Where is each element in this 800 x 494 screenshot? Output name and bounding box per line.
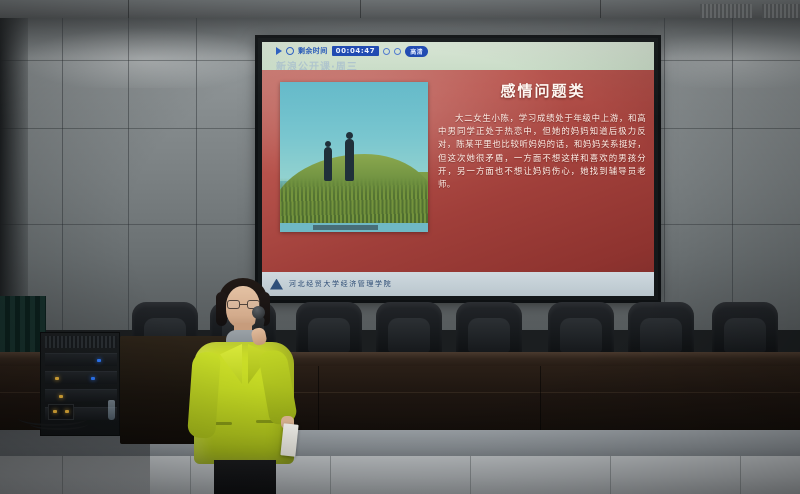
photo-figure-left: [324, 147, 332, 181]
wall-panel-seam: [732, 18, 733, 330]
cable: [30, 418, 88, 430]
wall-panel-seam: [0, 128, 258, 129]
glasses-bridge: [240, 304, 247, 305]
wall-panel-seam: [62, 18, 63, 330]
remaining-time-label: 剩余时间: [298, 46, 328, 56]
lens-left: [227, 300, 240, 309]
next-circle-icon[interactable]: [394, 48, 401, 55]
status-led-blue: [91, 377, 95, 380]
rack-unit: [45, 353, 117, 366]
tile-seam: [470, 456, 471, 494]
wall-panel-seam: [658, 128, 800, 129]
wall-panel-seam: [664, 18, 665, 330]
rack-unit: [45, 389, 117, 402]
rack-unit: [45, 371, 117, 384]
conference-chair: [456, 302, 522, 358]
tile-seam: [610, 456, 611, 494]
desk-joint: [540, 366, 541, 432]
slide-photo: [280, 82, 428, 232]
desk-joint: [318, 366, 319, 432]
slide-body-text: 大二女生小陈，学习成绩处于年级中上游，和高中男同学正处于热恋中，但她的妈妈知道后…: [438, 112, 646, 191]
conference-chair: [376, 302, 442, 358]
wall-panel-seam: [658, 224, 800, 225]
photo-caption-strip: [313, 225, 378, 230]
projection-screen: 剩余时间 00:04:47 高清 新浪公开课·周三 感情问题类 大二女生小陈，学…: [262, 42, 654, 296]
slide-title: 感情问题类: [440, 80, 646, 101]
rack-vent-grille: [45, 336, 117, 348]
remaining-time-value: 00:04:47: [332, 46, 380, 56]
wall-panel-seam: [128, 18, 129, 330]
status-led-blue: [97, 359, 101, 362]
water-bottle: [108, 400, 115, 420]
photo-figure-right: [345, 139, 354, 181]
status-led-amber: [59, 395, 63, 398]
refresh-circle-icon[interactable]: [286, 47, 294, 55]
tile-seam: [740, 456, 741, 494]
arm-left: [187, 351, 221, 439]
video-player-overlay: 剩余时间 00:04:47 高清: [276, 45, 428, 57]
lecture-hall-photo: 剩余时间 00:04:47 高清 新浪公开课·周三 感情问题类 大二女生小陈，学…: [0, 0, 800, 494]
paper-notes: [280, 423, 298, 456]
status-led-amber: [55, 377, 59, 380]
wall-left-shadow: [0, 18, 28, 330]
presenter: [186, 276, 312, 494]
skirt: [214, 460, 276, 494]
slide-footer: 河北经贸大学经济管理学院: [262, 272, 654, 296]
conference-chair: [712, 302, 778, 358]
conference-chair: [628, 302, 694, 358]
conference-chair: [548, 302, 614, 358]
presentation-slide: 感情问题类 大二女生小陈，学习成绩处于年级中上游，和高中男同学正处于热恋中，但她…: [262, 70, 654, 296]
tile-seam: [330, 456, 331, 494]
wall-panel-seam: [0, 224, 258, 225]
quality-badge[interactable]: 高清: [405, 46, 428, 57]
play-arrow-icon[interactable]: [276, 47, 282, 55]
prev-circle-icon[interactable]: [383, 48, 390, 55]
photo-grass: [280, 178, 428, 223]
